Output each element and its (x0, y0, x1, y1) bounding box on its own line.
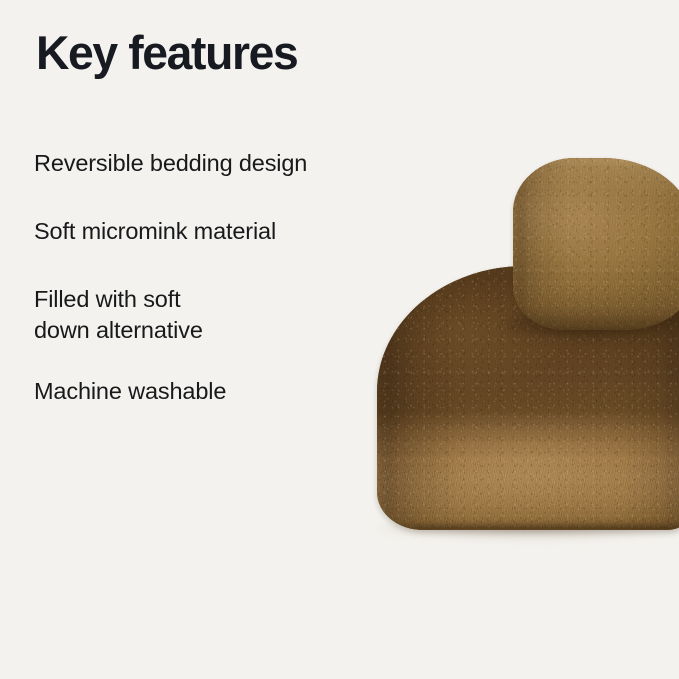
feature-item-soft-micromink-material: Soft micromink material (34, 216, 434, 247)
features-list: Reversible bedding design Soft micromink… (34, 148, 434, 407)
feature-item-machine-washable: Machine washable (34, 376, 434, 407)
page-title: Key features (36, 25, 297, 81)
comforter-bottom-hem (390, 520, 679, 530)
product-feature-card: Key features Reversible bedding design S… (0, 0, 679, 679)
pillow-body (513, 158, 679, 330)
feature-item-filled-with-soft-down-alternative: Filled with soft down alternative (34, 284, 434, 346)
feature-item-reversible-bedding-design: Reversible bedding design (34, 148, 434, 179)
